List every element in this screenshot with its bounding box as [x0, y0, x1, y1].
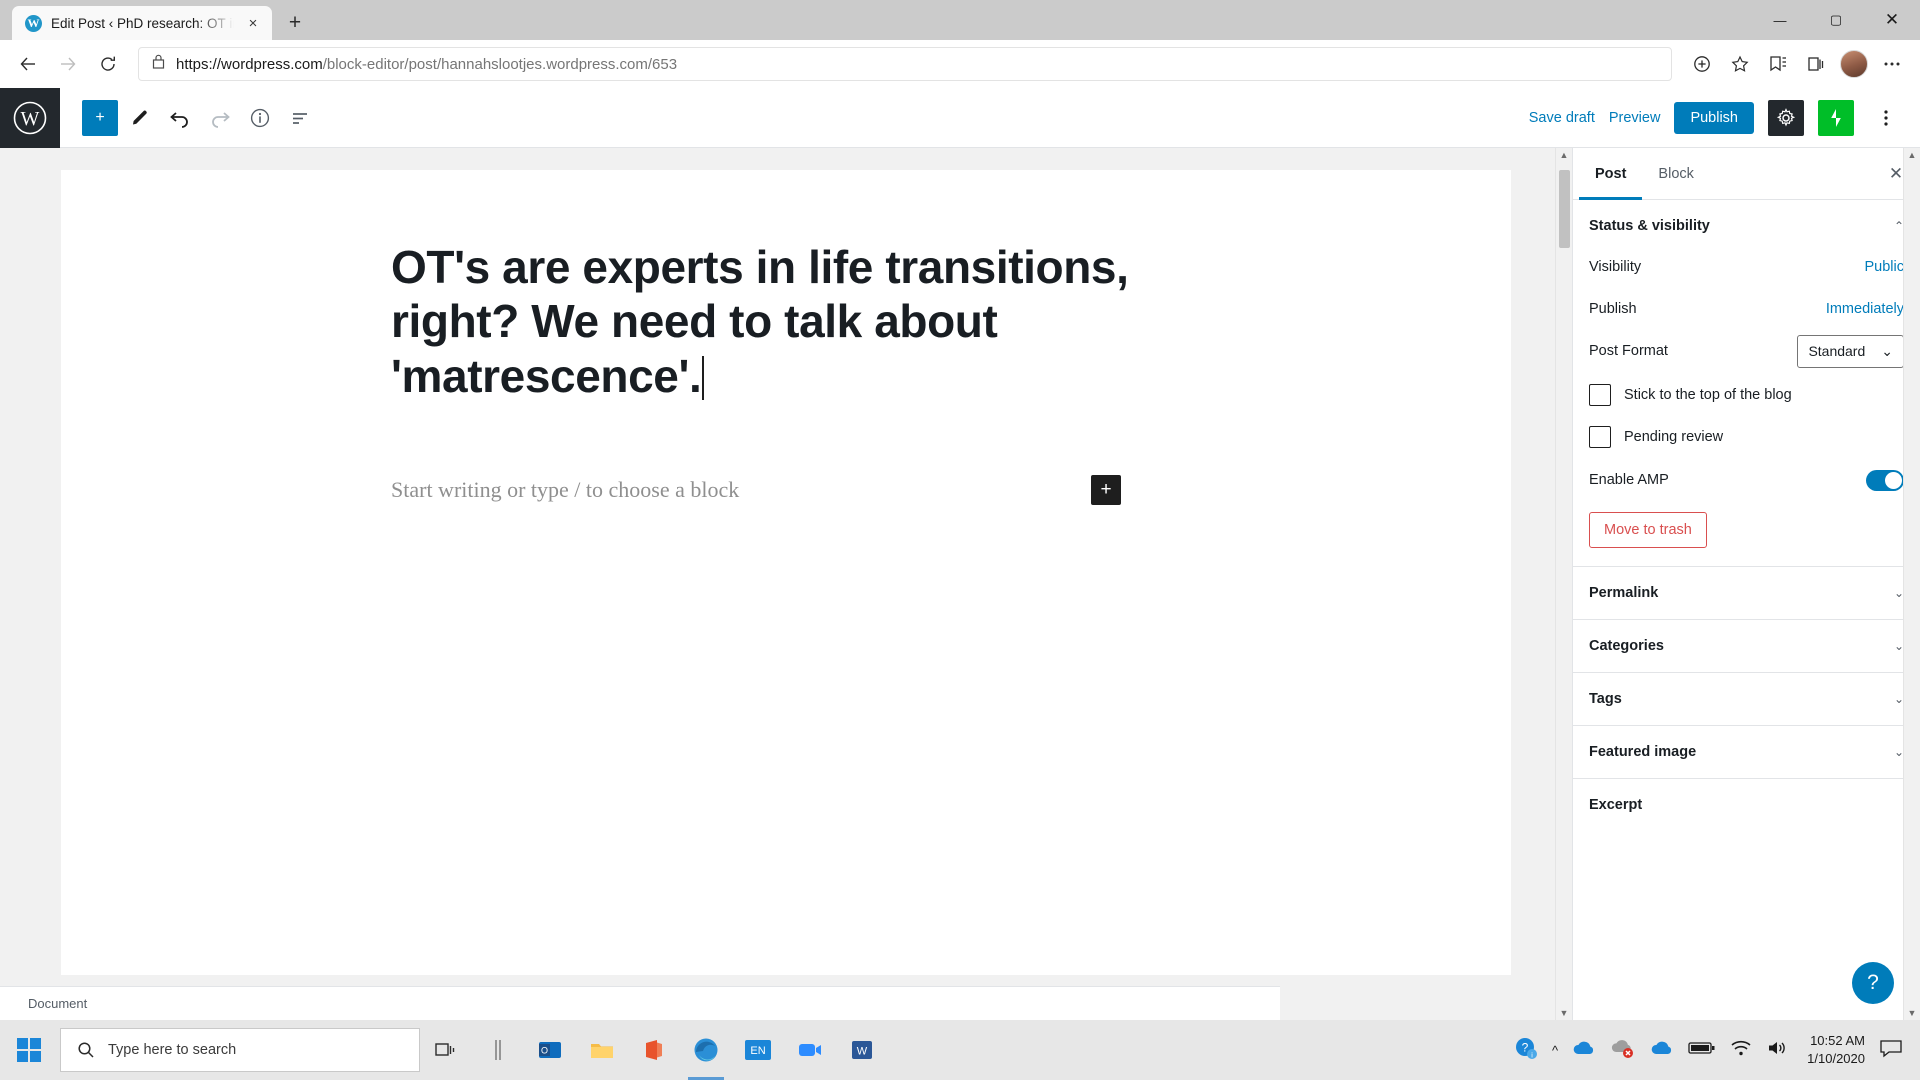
address-bar[interactable]: https://wordpress.com/block-editor/post/… — [138, 47, 1672, 81]
block-placeholder[interactable]: Start writing or type / to choose a bloc… — [391, 477, 739, 503]
search-placeholder: Type here to search — [108, 1042, 236, 1058]
status-visibility-header[interactable]: Status & visibility ⌃ — [1573, 200, 1920, 248]
section-permalink[interactable]: Permalink ⌄ — [1573, 566, 1920, 619]
show-hidden-icons[interactable]: ^ — [1552, 1043, 1558, 1058]
office-icon[interactable] — [628, 1020, 680, 1080]
editor-toolbar: + — [60, 100, 318, 136]
browser-tab[interactable]: W Edit Post ‹ PhD research: OT in p × — [12, 6, 272, 40]
wifi-icon[interactable] — [1729, 1038, 1753, 1063]
browser-window: W Edit Post ‹ PhD research: OT in p × + … — [0, 0, 1920, 1020]
pending-review-label: Pending review — [1624, 429, 1723, 445]
post-format-select[interactable]: Standard ⌄ — [1797, 335, 1904, 368]
search-input[interactable]: Type here to search — [60, 1028, 420, 1072]
pencil-icon[interactable] — [122, 100, 158, 136]
onedrive-icon[interactable] — [1649, 1038, 1675, 1063]
publish-button[interactable]: Publish — [1674, 102, 1754, 134]
volume-icon[interactable] — [1766, 1038, 1790, 1063]
editor-canvas-area: OT's are experts in life transitions, ri… — [0, 148, 1572, 1020]
status-visibility-panel: Status & visibility ⌃ Visibility Public … — [1573, 200, 1920, 566]
categories-title: Categories — [1589, 638, 1664, 654]
url-scheme: https://wordpress.com — [176, 56, 323, 73]
notification-icon[interactable] — [1878, 1037, 1904, 1063]
jetpack-icon[interactable] — [1818, 100, 1854, 136]
empty-paragraph-block[interactable]: Start writing or type / to choose a bloc… — [391, 475, 1181, 505]
browser-titlebar: W Edit Post ‹ PhD research: OT in p × + … — [0, 0, 1920, 40]
wordpress-logo[interactable]: W — [0, 88, 60, 148]
maximize-icon[interactable]: ▢ — [1808, 0, 1864, 40]
section-categories[interactable]: Categories ⌄ — [1573, 619, 1920, 672]
tab-post[interactable]: Post — [1579, 148, 1642, 200]
editor-body: OT's are experts in life transitions, ri… — [0, 148, 1920, 1020]
back-icon[interactable] — [10, 46, 46, 82]
permalink-title: Permalink — [1589, 585, 1658, 601]
minimize-icon[interactable]: — — [1752, 0, 1808, 40]
outlook-icon[interactable]: O — [524, 1020, 576, 1080]
omnibox-actions — [1684, 46, 1910, 82]
chevron-down-icon: ⌄ — [1881, 343, 1893, 360]
system-tray: ?i ^ 10:52 AM 1/10/2020 — [1513, 1020, 1920, 1080]
add-to-collections-icon[interactable] — [1684, 46, 1720, 82]
favorites-icon[interactable] — [1760, 46, 1796, 82]
close-icon[interactable]: × — [243, 13, 263, 33]
document-status-label[interactable]: Document — [28, 996, 87, 1011]
text-caret — [702, 356, 704, 400]
info-icon[interactable] — [242, 100, 278, 136]
redo-icon — [202, 100, 238, 136]
wordpress-editor: W + — [0, 88, 1920, 1020]
settings-scrollbar[interactable]: ▲ ▼ — [1903, 148, 1920, 1020]
taskbar-divider — [472, 1020, 524, 1080]
section-featured-image[interactable]: Featured image ⌄ — [1573, 725, 1920, 778]
scroll-thumb[interactable] — [1559, 170, 1570, 248]
enable-amp-label: Enable AMP — [1589, 472, 1669, 488]
visibility-row: Visibility Public — [1589, 248, 1904, 286]
publish-label: Publish — [1589, 301, 1637, 317]
word-icon[interactable]: W — [836, 1020, 888, 1080]
start-button[interactable] — [0, 1020, 58, 1080]
excerpt-title: Excerpt — [1589, 797, 1642, 813]
profile-avatar[interactable] — [1836, 46, 1872, 82]
list-view-icon[interactable] — [282, 100, 318, 136]
tab-strip: W Edit Post ‹ PhD research: OT in p × + — [0, 0, 312, 40]
task-view-icon[interactable] — [420, 1020, 472, 1080]
taskbar-clock[interactable]: 10:52 AM 1/10/2020 — [1807, 1032, 1865, 1067]
help-icon[interactable]: ?i — [1513, 1035, 1539, 1066]
forward-icon — [50, 46, 86, 82]
visibility-value[interactable]: Public — [1865, 259, 1905, 275]
add-block-button[interactable]: + — [82, 100, 118, 136]
search-icon — [77, 1041, 95, 1059]
settings-more-icon[interactable] — [1874, 46, 1910, 82]
status-visibility-title: Status & visibility — [1589, 218, 1710, 234]
pending-review-checkbox-row[interactable]: Pending review — [1589, 416, 1904, 458]
visibility-label: Visibility — [1589, 259, 1641, 275]
publish-value[interactable]: Immediately — [1826, 301, 1904, 317]
inline-inserter-button[interactable]: + — [1091, 475, 1121, 505]
svg-text:W: W — [857, 1046, 868, 1058]
tab-title: Edit Post ‹ PhD research: OT in p — [51, 16, 234, 31]
post-format-row: Post Format Standard ⌄ — [1589, 332, 1904, 370]
post-format-label: Post Format — [1589, 343, 1668, 359]
post-title-wrapper[interactable]: OT's are experts in life transitions, ri… — [391, 240, 1181, 403]
post-canvas[interactable]: OT's are experts in life transitions, ri… — [61, 170, 1511, 975]
close-window-icon[interactable]: ✕ — [1864, 0, 1920, 40]
pending-review-checkbox[interactable] — [1589, 426, 1611, 448]
browser-navbar: https://wordpress.com/block-editor/post/… — [0, 40, 1920, 88]
svg-text:EN: EN — [750, 1045, 765, 1057]
gear-icon[interactable] — [1768, 100, 1804, 136]
preview-button[interactable]: Preview — [1609, 110, 1661, 126]
editor-actions: Save draft Preview Publish — [1529, 100, 1920, 136]
window-controls: — ▢ ✕ — [1752, 0, 1920, 40]
post-format-value: Standard — [1808, 343, 1865, 359]
language-indicator[interactable]: EN — [732, 1020, 784, 1080]
section-tags[interactable]: Tags ⌄ — [1573, 672, 1920, 725]
url-path: /block-editor/post/hannahslootjes.wordpr… — [323, 56, 677, 73]
status-visibility-body: Visibility Public Publish Immediately Po… — [1573, 248, 1920, 566]
sticky-label: Stick to the top of the blog — [1624, 387, 1792, 403]
scroll-down-icon[interactable]: ▼ — [1908, 1008, 1917, 1018]
onedrive-error-icon[interactable] — [1610, 1037, 1636, 1064]
wordpress-icon: W — [25, 15, 42, 32]
settings-tablist: Post Block ✕ — [1573, 148, 1920, 200]
lock-icon — [151, 53, 166, 75]
tab-block[interactable]: Block — [1642, 148, 1709, 200]
collections-icon[interactable] — [1798, 46, 1834, 82]
file-explorer-icon[interactable] — [576, 1020, 628, 1080]
windows-logo — [17, 1038, 42, 1063]
featured-image-title: Featured image — [1589, 744, 1696, 760]
enable-amp-toggle[interactable] — [1866, 470, 1904, 491]
more-options-icon[interactable] — [1868, 100, 1904, 136]
publish-row: Publish Immediately — [1589, 290, 1904, 328]
settings-sidebar: Post Block ✕ Status & visibility ⌃ Visib… — [1572, 148, 1920, 1020]
scroll-up-icon[interactable]: ▲ — [1908, 150, 1917, 160]
svg-text:W: W — [21, 108, 40, 130]
tags-title: Tags — [1589, 691, 1622, 707]
clock-date: 1/10/2020 — [1807, 1050, 1865, 1068]
enable-amp-row: Enable AMP — [1589, 458, 1904, 502]
editor-scrollbar[interactable]: ▲ ▼ — [1555, 148, 1572, 1020]
onedrive-icon[interactable] — [1571, 1038, 1597, 1063]
scroll-up-icon[interactable]: ▲ — [1560, 150, 1569, 160]
post-title[interactable]: OT's are experts in life transitions, ri… — [391, 241, 1128, 402]
editor-status-bar: Document — [0, 986, 1280, 1020]
clock-time: 10:52 AM — [1810, 1032, 1865, 1050]
svg-text:O: O — [541, 1046, 548, 1056]
sticky-checkbox-row[interactable]: Stick to the top of the blog — [1589, 374, 1904, 416]
section-excerpt[interactable]: Excerpt — [1573, 778, 1920, 831]
battery-icon[interactable] — [1688, 1040, 1716, 1061]
new-tab-button[interactable]: + — [278, 6, 312, 40]
undo-icon[interactable] — [162, 100, 198, 136]
scroll-down-icon[interactable]: ▼ — [1560, 1008, 1569, 1018]
move-to-trash-button[interactable]: Move to trash — [1589, 512, 1707, 548]
url-text: https://wordpress.com/block-editor/post/… — [176, 56, 677, 73]
favorite-star-icon[interactable] — [1722, 46, 1758, 82]
help-button[interactable]: ? — [1852, 962, 1894, 1004]
zoom-icon[interactable] — [784, 1020, 836, 1080]
save-draft-button[interactable]: Save draft — [1529, 110, 1595, 126]
sticky-checkbox[interactable] — [1589, 384, 1611, 406]
editor-header: W + — [0, 88, 1920, 148]
edge-icon[interactable] — [680, 1020, 732, 1080]
reload-icon[interactable] — [90, 46, 126, 82]
windows-taskbar: Type here to search O EN W ?i ^ — [0, 1020, 1920, 1080]
